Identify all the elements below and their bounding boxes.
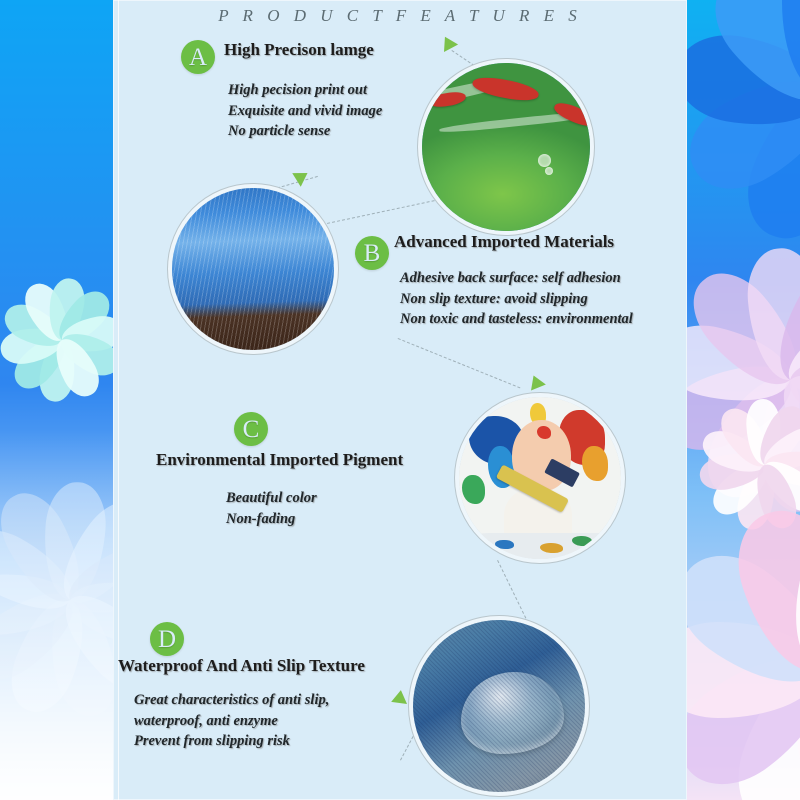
feature-c-heading: Environmental Imported Pigment (156, 450, 403, 470)
connector-arrow-into-d (391, 689, 409, 704)
feature-d-blurb: Great characteristics of anti slip, wate… (134, 690, 329, 752)
product-features-infographic: P R O D U C T F E A T U R E S A High Pre… (0, 0, 800, 800)
feature-a-photo (422, 63, 590, 231)
baby-painting-photo (459, 397, 621, 559)
page-title: P R O D U C T F E A T U R E S (113, 6, 687, 26)
badge-b: B (355, 236, 389, 270)
water-drop-texture-photo (413, 620, 585, 792)
badge-c: C (234, 412, 268, 446)
feature-d-heading: Waterproof And Anti Slip Texture (118, 656, 365, 676)
feature-d-photo (413, 620, 585, 792)
feature-c-blurb: Beautiful color Non-fading (226, 488, 317, 529)
blue-fabric-material-photo (172, 188, 334, 350)
koi-pond-print-photo (422, 63, 590, 231)
badge-d: D (150, 622, 184, 656)
panel-inner-rule (118, 0, 119, 800)
feature-b-heading: Advanced Imported Materials (394, 232, 614, 252)
feature-a-blurb: High pecision print out Exquisite and vi… (228, 80, 382, 142)
feature-b-photo (172, 188, 334, 350)
feature-c-photo (459, 397, 621, 559)
badge-a: A (181, 40, 215, 74)
feature-a-heading: High Precison lamge (224, 40, 374, 60)
feature-b-blurb: Adhesive back surface: self adhesion Non… (400, 268, 633, 330)
